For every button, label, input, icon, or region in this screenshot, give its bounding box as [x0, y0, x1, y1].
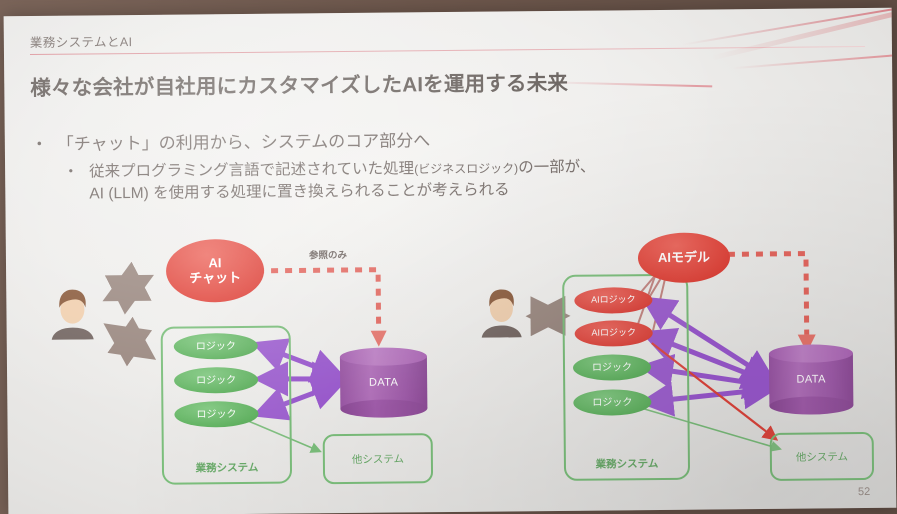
projected-slide-photo: 業務システムとAI 様々な会社が自社用にカスタマイズしたAIを運用する未来 ・「… [0, 0, 897, 514]
cylinder-data-left: DATA [340, 347, 428, 418]
decor-ribbon-3 [732, 53, 896, 69]
label-reference-only: 参照のみ [309, 247, 347, 261]
avatar-user-left [48, 283, 97, 344]
header-divider [30, 46, 865, 55]
page-number: 52 [858, 486, 870, 498]
node-ai-model: AIモデル [638, 232, 730, 283]
slide-header-label: 業務システムとAI [30, 31, 133, 51]
bullet-level1: ・「チャット」の利用から、システムのコア部分へ [31, 126, 431, 155]
ref-arrow-head [371, 331, 387, 347]
node-ai-chat-line1: AI [189, 256, 241, 271]
slide-canvas: 業務システムとAI 様々な会社が自社用にカスタマイズしたAIを運用する未来 ・「… [4, 8, 897, 514]
bullet-level2: ・ 従来プログラミング言語で記述されていた処理(ビジネスロジック)の一部が、 A… [63, 157, 596, 206]
bullet-level1-text: 「チャット」の利用から、システムのコア部分へ [57, 131, 430, 154]
bullet-marker-sub: ・ [63, 162, 79, 184]
decor-ribbon-1 [682, 8, 897, 46]
box-business-system-right-caption: 業務システム [566, 456, 688, 472]
slide-title: 様々な会社が自社用にカスタマイズしたAIを運用する未来 [30, 66, 568, 101]
line1-part-b: の一部が、 [518, 159, 595, 177]
box-other-system-right: 他システム [770, 432, 874, 481]
node-ai-chat: AI チャット [166, 239, 265, 303]
cylinder-data-right: DATA [769, 344, 854, 415]
cylinder-data-right-label: DATA [769, 373, 853, 386]
node-ai-chat-line2: チャット [189, 271, 241, 286]
box-business-system-left-caption: 業務システム [164, 460, 290, 476]
box-other-system-left: 他システム [323, 433, 433, 484]
line1-paren: (ビジネスロジック) [414, 161, 518, 176]
line1-part-a: 従来プログラミング言語で記述されていた処理 [89, 160, 414, 180]
decor-ribbon-2 [711, 8, 896, 61]
bullet-level2-line2: AI (LLM) を使用する処理に置き換えられることが考えられる [89, 179, 595, 206]
bullet-marker: ・ [31, 130, 57, 155]
cylinder-data-left-label: DATA [340, 376, 427, 389]
node-ai-model-label: AIモデル [658, 250, 710, 265]
avatar-user-right [478, 283, 525, 342]
